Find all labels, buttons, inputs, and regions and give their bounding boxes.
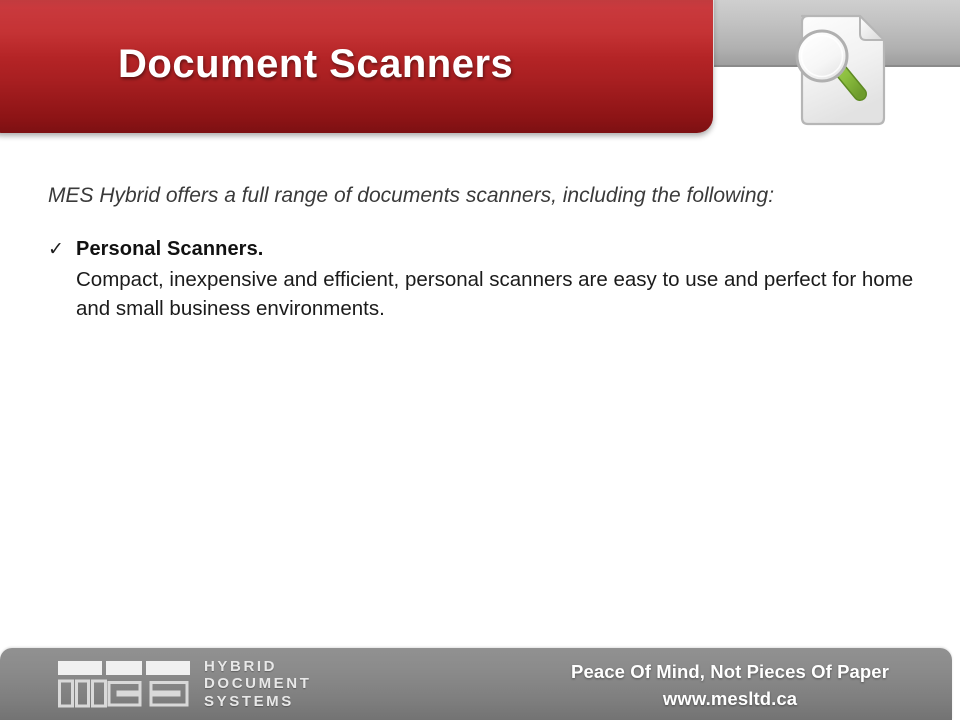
checkmark-icon: ✓ bbox=[48, 240, 64, 259]
slide-footer: HYBRID DOCUMENT SYSTEMS Peace Of Mind, N… bbox=[0, 648, 952, 720]
logo-line-1: HYBRID bbox=[204, 658, 311, 675]
footer-tagline-group: Peace Of Mind, Not Pieces Of Paper www.m… bbox=[520, 661, 940, 710]
tagline-text: Peace Of Mind, Not Pieces Of Paper bbox=[520, 661, 940, 683]
slide-canvas: Document Scanners bbox=[0, 0, 960, 720]
bullet-title: Personal Scanners. bbox=[76, 238, 263, 261]
website-url[interactable]: www.mesltd.ca bbox=[520, 688, 940, 710]
intro-text: MES Hybrid offers a full range of docume… bbox=[48, 184, 774, 208]
bullet-list: ✓ Personal Scanners. Compact, inexpensiv… bbox=[48, 238, 918, 323]
slide-body: MES Hybrid offers a full range of docume… bbox=[0, 150, 960, 620]
logo-wordmark-lines: HYBRID DOCUMENT SYSTEMS bbox=[204, 658, 311, 710]
document-magnifier-icon bbox=[788, 6, 896, 134]
page-title: Document Scanners bbox=[118, 42, 678, 87]
logo-line-3: SYSTEMS bbox=[204, 693, 311, 710]
slide-header: Document Scanners bbox=[0, 0, 960, 150]
bullet-description: Compact, inexpensive and efficient, pers… bbox=[48, 265, 918, 323]
mes-logo-icon bbox=[56, 659, 192, 709]
logo-line-2: DOCUMENT bbox=[204, 675, 311, 692]
company-logo: HYBRID DOCUMENT SYSTEMS bbox=[56, 658, 311, 710]
list-item: ✓ Personal Scanners. bbox=[48, 238, 918, 261]
